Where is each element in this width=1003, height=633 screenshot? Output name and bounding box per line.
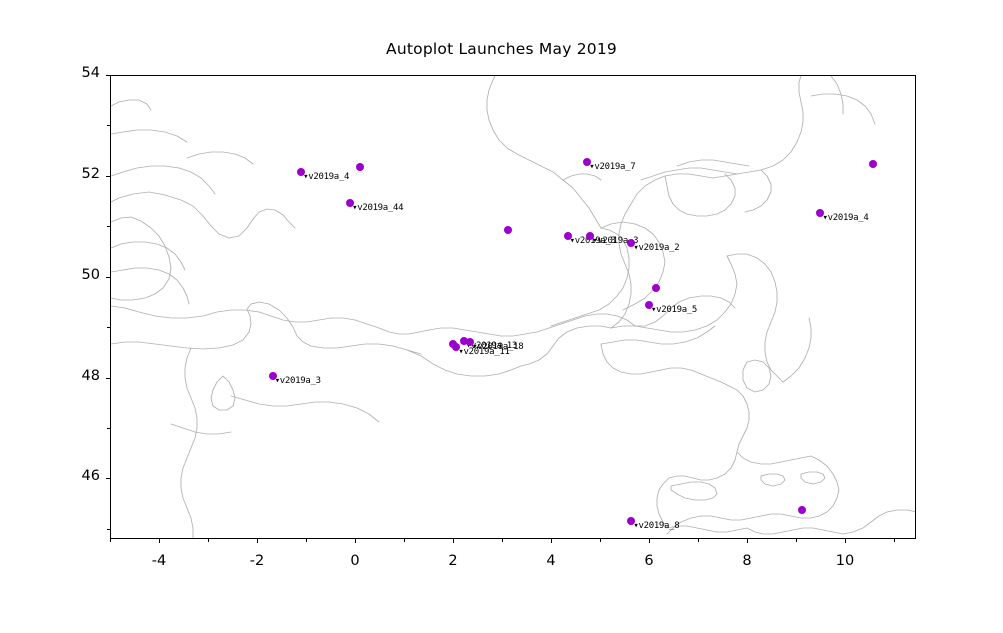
x-axis-tick-label: -2 <box>227 553 287 569</box>
y-axis-tick <box>106 176 110 177</box>
y-axis-minor-tick <box>107 529 110 530</box>
data-point-label: ▾v2019a_2 <box>633 244 679 253</box>
y-axis-minor-tick <box>107 428 110 429</box>
data-point-label: ▾v2019a_7 <box>589 163 635 172</box>
y-axis-tick-label: 50 <box>40 267 100 283</box>
data-point-label: ▾v2019a_5 <box>651 306 697 315</box>
coastline-map <box>111 76 916 539</box>
y-axis-minor-tick <box>107 327 110 328</box>
x-axis-minor-tick <box>110 539 111 542</box>
x-axis-minor-tick <box>208 539 209 542</box>
x-axis-minor-tick <box>404 539 405 542</box>
data-point-label: ▾v2019a_11 <box>458 348 509 357</box>
y-axis-tick-label: 48 <box>40 368 100 384</box>
y-axis-tick <box>106 75 110 76</box>
x-axis-minor-tick <box>306 539 307 542</box>
x-axis-minor-tick <box>502 539 503 542</box>
data-point-label: ▾v2019a_44 <box>352 204 403 213</box>
data-point[interactable] <box>652 284 660 292</box>
x-axis-tick-label: 10 <box>815 553 875 569</box>
data-point[interactable] <box>869 160 877 168</box>
x-axis-tick <box>551 539 552 543</box>
y-axis-tick-label: 54 <box>40 65 100 81</box>
x-axis-tick-label: 4 <box>521 553 581 569</box>
chart-title: Autoplot Launches May 2019 <box>0 40 1003 58</box>
x-axis-tick <box>159 539 160 543</box>
x-axis-tick <box>453 539 454 543</box>
data-point-label: ▾v2019a_8 <box>633 522 679 531</box>
x-axis-tick <box>649 539 650 543</box>
data-point-label: ▾v2019a_4 <box>822 214 868 223</box>
x-axis-tick-label: 2 <box>423 553 483 569</box>
x-axis-tick-label: 0 <box>325 553 385 569</box>
data-point[interactable] <box>356 163 364 171</box>
x-axis-tick <box>257 539 258 543</box>
data-point[interactable] <box>504 226 512 234</box>
y-axis-tick-label: 52 <box>40 166 100 182</box>
y-axis-tick <box>106 378 110 379</box>
x-axis-tick <box>355 539 356 543</box>
y-axis-tick <box>106 277 110 278</box>
data-point-label: ▾v2019a_4 <box>303 173 349 182</box>
x-axis-tick-label: -4 <box>129 553 189 569</box>
y-axis-tick <box>106 478 110 479</box>
data-point[interactable] <box>798 506 806 514</box>
figure-canvas: Autoplot Launches May 2019 <box>0 0 1003 633</box>
data-point-label: ▾v2019a_3 <box>275 377 321 386</box>
x-axis-minor-tick <box>600 539 601 542</box>
x-axis-minor-tick <box>796 539 797 542</box>
x-axis-minor-tick <box>698 539 699 542</box>
x-axis-tick-label: 8 <box>717 553 777 569</box>
y-axis-tick-label: 46 <box>40 468 100 484</box>
x-axis-tick <box>747 539 748 543</box>
map-plot-area[interactable]: ▾v2019a_4▾v2019a_44▾v2019a_7▾v2019a_4▾v2… <box>110 75 916 539</box>
x-axis-minor-tick <box>894 539 895 542</box>
y-axis-minor-tick <box>107 226 110 227</box>
x-axis-tick-label: 6 <box>619 553 679 569</box>
x-axis-tick <box>845 539 846 543</box>
y-axis-minor-tick <box>107 125 110 126</box>
